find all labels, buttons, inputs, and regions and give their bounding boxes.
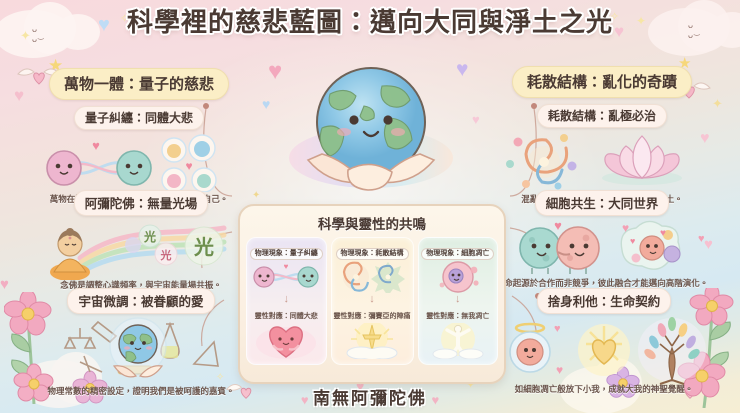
infographic-poster: ᴗ ᴗ ‿ ᴗ ᴗ ‿ ★ ★ ✦ ✦ ✦ ✧ ✧ ✦ ✦ ✧ ♥ ♥ ♥ (0, 0, 740, 413)
section-heading: 細胞共生：大同世界 (535, 190, 670, 216)
mantra-bar: ♥ 南無阿彌陀佛 ♥ (0, 384, 740, 409)
svg-text:♥: ♥ (556, 363, 563, 377)
svg-text:光: 光 (193, 236, 214, 259)
physical-phenomenon-label: 物理現象：細胞凋亡 (421, 248, 494, 260)
down-arrow-icon: ↓ (421, 294, 496, 305)
left-section-fine-tuning: 宇宙微調：被眷顧的愛 (34, 288, 248, 397)
right-section-altruism: 捨身利他：生命契約 ♥ ♥ (496, 288, 712, 395)
light-beam-cloud-icon (334, 323, 411, 359)
section-heading: 宇宙微調：被眷顧的愛 (67, 288, 214, 314)
svg-text:光: 光 (143, 229, 156, 244)
heart-icon: ♥ (301, 392, 309, 407)
heart-icon: ♥ (262, 96, 270, 112)
earth-in-hands-with-science-tools-icon (34, 316, 248, 386)
heart-icon: ♥ (456, 58, 468, 82)
meditating-buddha-rainbow-icon: 光 光 光 (38, 218, 244, 280)
section-subheading: 耗散結構：亂極必治 (537, 104, 667, 128)
right-section-symbiosis: 細胞共生：大同世界 ♥ (492, 190, 712, 289)
svg-text:光: 光 (160, 248, 172, 262)
section-heading: 耗散結構：亂化的奇蹟 (512, 66, 692, 98)
apoptosis-cell-icon (421, 260, 496, 294)
comparison-column-apoptosis: 物理現象：細胞凋亡 ↓ 靈性對應：無我凋亡 (418, 237, 499, 365)
symbiotic-cells-hug-icon: ♥ ♥ (492, 218, 712, 278)
svg-text:♥: ♥ (92, 138, 100, 153)
svg-text:♥: ♥ (660, 228, 666, 239)
mantra-text: 南無阿彌陀佛 (313, 389, 427, 408)
spiritual-correspondence-label: 靈性對應：同體大悲 (255, 312, 318, 321)
page-title: 科學裡的慈悲藍圖：邁向大同與淨土之光 (127, 2, 613, 39)
left-section-quantum: 萬物一體：量子的慈悲 量子糾纏：同體大悲 ♥ (34, 68, 244, 205)
entangled-particles-icon: ♥ ♥ (34, 134, 244, 192)
heart-icon: ♥ (431, 392, 439, 407)
left-section-amitabha: 阿彌陀佛：無量光場 (38, 190, 244, 291)
center-panel-title: 科學與靈性的共鳴 (240, 213, 504, 233)
section-heading: 萬物一體：量子的慈悲 (49, 68, 229, 100)
heart-icon: ♥ (268, 58, 282, 86)
comparison-column-quantum: 物理現象：量子糾纏 ♥ ↓ 靈性對應：同體大悲 (246, 237, 327, 365)
chaos-spiral-and-lotus-icon (496, 130, 708, 194)
down-arrow-icon: ↓ (249, 294, 324, 305)
haloed-cell-heart-tree-icon: ♥ ♥ (496, 316, 712, 390)
section-heading: 阿彌陀佛：無量光場 (74, 190, 209, 216)
svg-text:♥: ♥ (622, 221, 629, 235)
earth-hugged-by-hands-icon (286, 54, 456, 206)
svg-text:♥: ♥ (185, 159, 192, 173)
center-comparison-panel: 科學與靈性的共鳴 物理現象：量子糾纏 ♥ (238, 204, 506, 384)
physical-phenomenon-label: 物理現象：耗散結構 (336, 248, 409, 260)
comparison-column-dissipative: 物理現象：耗散結構 ↓ 靈性對應：彌賽亞的 (331, 237, 414, 365)
svg-text:♥: ♥ (284, 262, 289, 271)
comparison-columns: 物理現象：量子糾纏 ♥ ↓ 靈性對應：同體大悲 (240, 233, 504, 365)
right-section-dissipative: 耗散結構：亂化的奇蹟 耗散結構：亂極必治 (496, 66, 708, 205)
down-arrow-icon: ↓ (334, 294, 411, 305)
spiritual-correspondence-label: 靈性對應：彌賽亞的陣痛 (334, 312, 411, 321)
heart-icon: ♥ (472, 112, 480, 127)
svg-text:♥: ♥ (698, 233, 705, 245)
dissipative-spiral-icon (334, 260, 411, 294)
section-heading: 捨身利他：生命契約 (537, 288, 672, 314)
ascending-figure-icon (421, 323, 496, 359)
heart-hug-icon (249, 323, 324, 359)
physical-phenomenon-label: 物理現象：量子糾纏 (250, 248, 323, 260)
entangled-pair-icon: ♥ (249, 260, 324, 294)
title-bar: 科學裡的慈悲藍圖：邁向大同與淨土之光 (0, 2, 740, 39)
svg-text:♥: ♥ (630, 236, 635, 246)
spiritual-correspondence-label: 靈性對應：無我凋亡 (426, 312, 489, 321)
svg-text:♥: ♥ (554, 218, 562, 233)
svg-text:♥: ♥ (554, 323, 561, 335)
section-subheading: 量子糾纏：同體大悲 (74, 106, 204, 130)
